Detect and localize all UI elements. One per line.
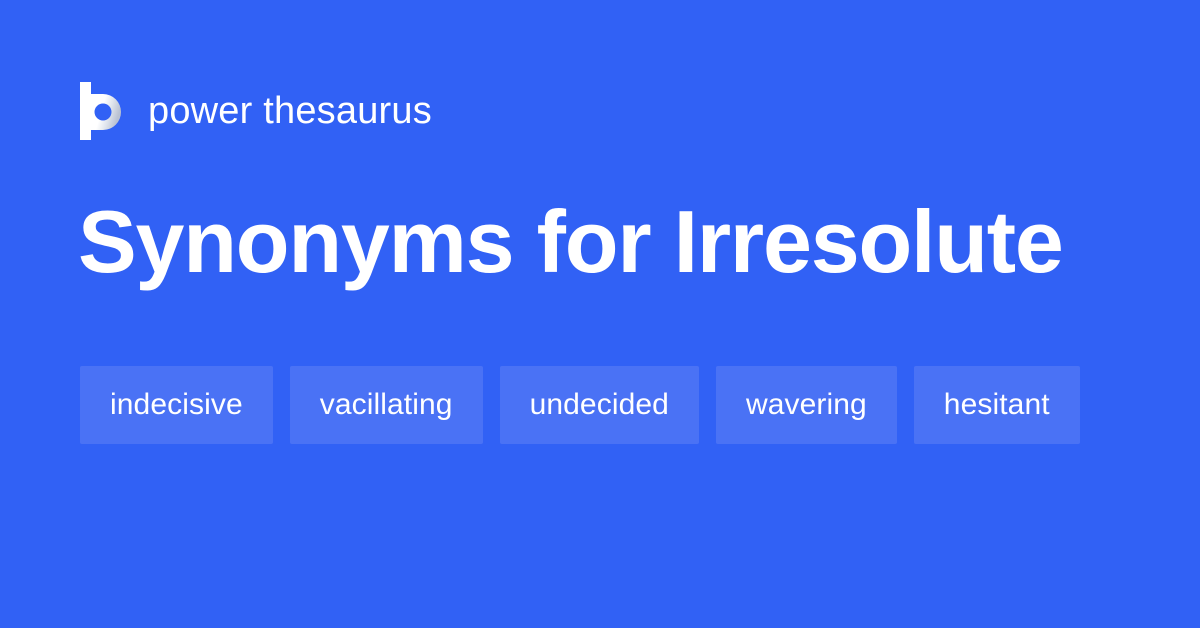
brand-name: power thesaurus [148, 92, 432, 130]
synonym-chip[interactable]: undecided [500, 366, 699, 444]
power-thesaurus-b-logo-icon [80, 82, 126, 140]
synonym-chip[interactable]: hesitant [914, 366, 1080, 444]
synonym-chip[interactable]: indecisive [80, 366, 273, 444]
synonym-chip-list: indecisive vacillating undecided waverin… [80, 366, 1080, 444]
page-title: Synonyms for Irresolute [78, 196, 1138, 288]
brand-header[interactable]: power thesaurus [80, 82, 432, 140]
synonyms-card: power thesaurus Synonyms for Irresolute … [0, 0, 1200, 628]
synonym-chip[interactable]: vacillating [290, 366, 483, 444]
synonym-chip[interactable]: wavering [716, 366, 897, 444]
